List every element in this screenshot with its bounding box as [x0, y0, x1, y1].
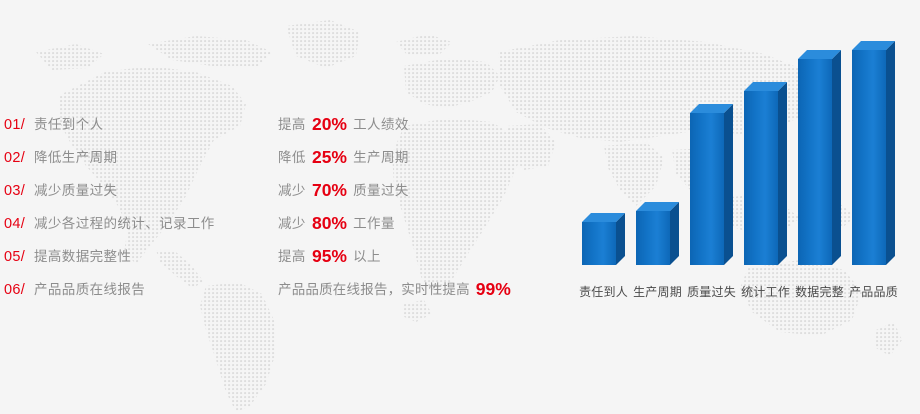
- chart-bar: [798, 59, 832, 265]
- result-value: 70%: [310, 180, 349, 200]
- result-item: 提高 20% 工人绩效: [278, 108, 568, 141]
- result-suffix: 工作量: [353, 216, 395, 231]
- chart-bar-side-face: [832, 50, 841, 265]
- list-item-label: 产品品质在线报告: [34, 282, 145, 297]
- result-item: 提高 95% 以上: [278, 240, 568, 273]
- list-item: 02/降低生产周期: [4, 141, 266, 174]
- results-list: 提高 20% 工人绩效 降低 25% 生产周期 减少 70% 质量过失 减少 8…: [278, 108, 568, 306]
- result-value: 99%: [474, 279, 513, 299]
- chart-bar-top-face: [690, 104, 733, 114]
- list-item-index: 04/: [4, 208, 34, 241]
- list-item-label: 减少各过程的统计、记录工作: [34, 216, 215, 231]
- list-item-index: 06/: [4, 274, 34, 307]
- result-prefix: 降低: [278, 150, 306, 165]
- result-value: 95%: [310, 246, 349, 266]
- list-item-index: 01/: [4, 109, 34, 142]
- x-axis-label: 产品品质: [844, 283, 903, 300]
- chart-bar-side-face: [778, 82, 787, 265]
- x-axis-label: 质量过失: [682, 283, 741, 300]
- result-prefix: 提高: [278, 117, 306, 132]
- chart-bar-top-face: [852, 41, 895, 51]
- result-value: 80%: [310, 213, 349, 233]
- chart-bar: [852, 50, 886, 265]
- chart-bar-top-face: [798, 50, 841, 60]
- chart-bar-front-face: [636, 211, 670, 265]
- list-item-index: 05/: [4, 241, 34, 274]
- chart-bar: [582, 222, 616, 265]
- result-prefix: 减少: [278, 183, 306, 198]
- result-suffix: 质量过失: [353, 183, 409, 198]
- chart-bar: [690, 113, 724, 265]
- result-value: 20%: [310, 114, 349, 134]
- chart-bar-side-face: [724, 104, 733, 265]
- list-item-label: 降低生产周期: [34, 150, 117, 165]
- improvement-bar-chart: 责任到人生产周期质量过失统计工作数据完整产品品质: [560, 0, 920, 414]
- result-suffix: 以上: [353, 249, 381, 264]
- x-axis-label: 统计工作: [736, 283, 795, 300]
- chart-bar-front-face: [690, 113, 724, 265]
- result-item: 产品品质在线报告，实时性提高 99%: [278, 273, 568, 306]
- x-axis-labels: 责任到人生产周期质量过失统计工作数据完整产品品质: [560, 283, 920, 303]
- result-prefix: 提高: [278, 249, 306, 264]
- chart-bar-front-face: [798, 59, 832, 265]
- chart-bar-front-face: [852, 50, 886, 265]
- benefits-list: 01/责任到个人 02/降低生产周期 03/减少质量过失 04/减少各过程的统计…: [4, 108, 266, 306]
- chart-bar: [636, 211, 670, 265]
- chart-bar-side-face: [886, 41, 895, 265]
- chart-bar-top-face: [636, 202, 679, 212]
- result-item: 减少 70% 质量过失: [278, 174, 568, 207]
- chart-bar-top-face: [582, 213, 625, 223]
- result-suffix: 工人绩效: [353, 117, 409, 132]
- chart-plot-area: [560, 0, 920, 280]
- chart-bar-front-face: [582, 222, 616, 265]
- list-item: 06/产品品质在线报告: [4, 273, 266, 306]
- list-item-index: 03/: [4, 175, 34, 208]
- result-item: 降低 25% 生产周期: [278, 141, 568, 174]
- chart-bar: [744, 91, 778, 265]
- list-item: 04/减少各过程的统计、记录工作: [4, 207, 266, 240]
- result-suffix: 生产周期: [353, 150, 409, 165]
- x-axis-label: 生产周期: [628, 283, 687, 300]
- list-item: 01/责任到个人: [4, 108, 266, 141]
- result-value: 25%: [310, 147, 349, 167]
- result-prefix: 产品品质在线报告，实时性提高: [278, 282, 470, 297]
- chart-bar-front-face: [744, 91, 778, 265]
- list-item-index: 02/: [4, 142, 34, 175]
- list-item: 05/提高数据完整性: [4, 240, 266, 273]
- list-item-label: 提高数据完整性: [34, 249, 131, 264]
- x-axis-label: 数据完整: [790, 283, 849, 300]
- list-item-label: 减少质量过失: [34, 183, 117, 198]
- chart-bar-top-face: [744, 82, 787, 92]
- result-prefix: 减少: [278, 216, 306, 231]
- list-item: 03/减少质量过失: [4, 174, 266, 207]
- result-item: 减少 80% 工作量: [278, 207, 568, 240]
- x-axis-label: 责任到人: [574, 283, 633, 300]
- list-item-label: 责任到个人: [34, 117, 104, 132]
